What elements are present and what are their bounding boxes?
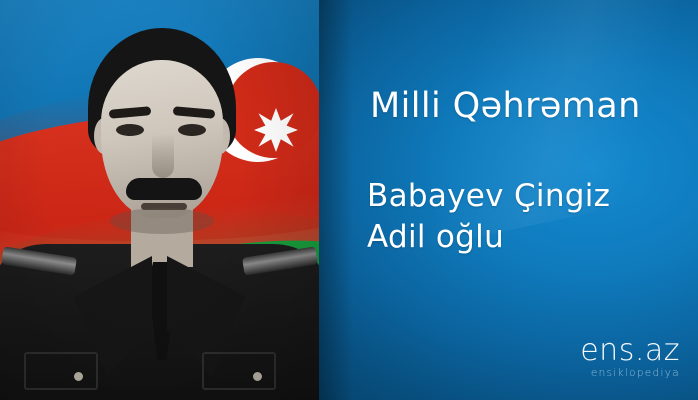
panel-edge-shadow — [319, 0, 353, 400]
page-title: Milli Qəhrəman — [370, 86, 641, 126]
hero-banner: Milli Qəhrəman Babayev Çingiz Adil oğlu … — [0, 0, 698, 400]
uniform-pocket-right — [202, 352, 276, 390]
chin-shadow — [110, 208, 214, 234]
hero-photo — [0, 0, 319, 400]
logo-wordmark: ens.az — [580, 336, 680, 366]
uniform-pocket-left — [24, 352, 98, 390]
uniform-button-left — [74, 372, 83, 381]
hero-name-line-2: Adil oğlu — [367, 217, 610, 258]
logo-tagline: ensiklopediya — [580, 368, 680, 379]
eye-left — [116, 124, 144, 136]
hero-name-line-1: Babayev Çingiz — [367, 176, 610, 217]
nose — [152, 134, 174, 178]
info-panel: Milli Qəhrəman Babayev Çingiz Adil oğlu … — [319, 0, 698, 400]
portrait-figure — [0, 0, 319, 400]
uniform-button-right — [253, 372, 262, 381]
eye-right — [178, 124, 206, 136]
site-logo[interactable]: ens.az ensiklopediya — [580, 336, 680, 379]
mustache — [126, 178, 202, 200]
hero-name: Babayev Çingiz Adil oğlu — [367, 176, 610, 258]
